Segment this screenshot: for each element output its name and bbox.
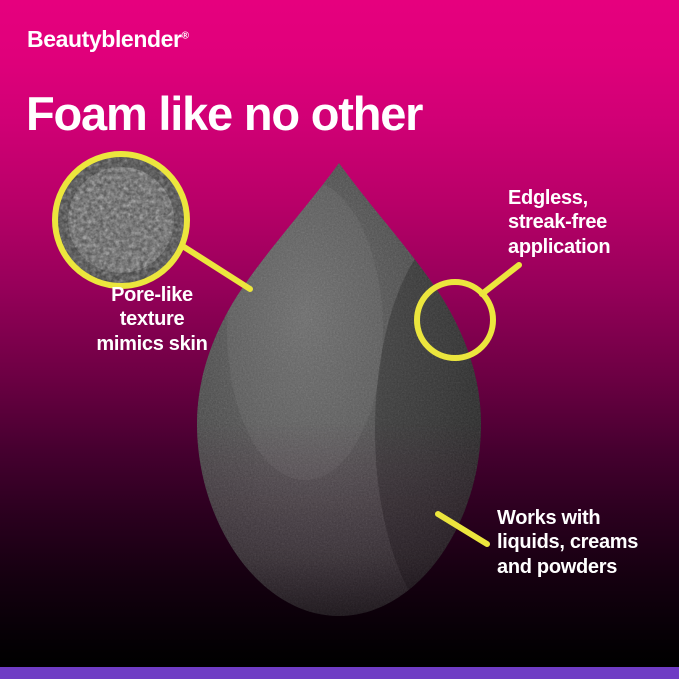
pore-texture-magnifier — [50, 149, 195, 294]
registered-trademark-icon: ® — [182, 30, 189, 41]
page-title: Foam like no other — [26, 89, 422, 138]
leader-line-edgeless — [482, 265, 519, 294]
callout-works-with: Works with liquids, creams and powders — [497, 506, 679, 579]
brand-wordmark: Beautyblender® — [27, 28, 189, 51]
callout-edgeless-application: Edgless, streak-free application — [508, 186, 678, 259]
purple-footer-band — [0, 667, 679, 679]
callout-pore-like-texture: Pore-like texture mimics skin — [48, 283, 256, 356]
ad-canvas: Beautyblender® Foam like no other Pore-l… — [0, 0, 679, 679]
brand-name: Beautyblender — [27, 26, 182, 52]
